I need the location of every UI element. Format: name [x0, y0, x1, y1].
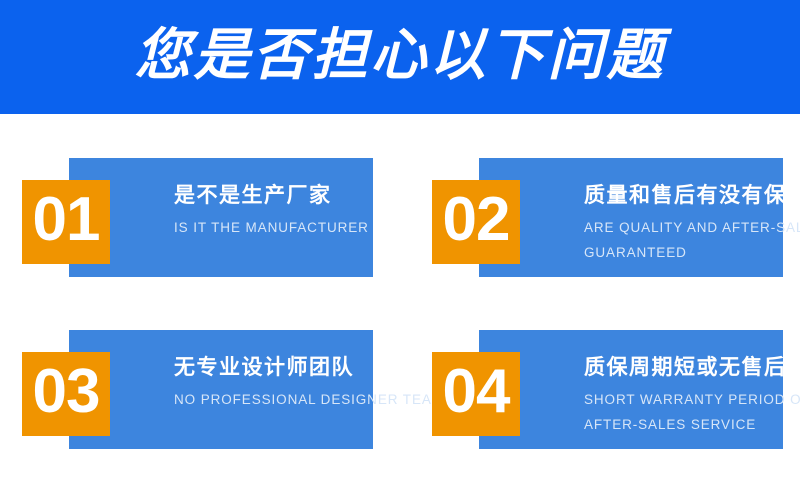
- concern-card-04: 质保周期短或无售后 SHORT WARRANTY PERIOD OR NO AF…: [432, 327, 800, 457]
- page-title: 您是否担心以下问题: [0, 0, 800, 114]
- card-title-en-line: NO PROFESSIONAL DESIGNER TEAM: [174, 388, 422, 413]
- card-panel: 质保周期短或无售后 SHORT WARRANTY PERIOD OR NO AF…: [479, 330, 783, 449]
- card-title-en-line: GUARANTEED: [584, 241, 800, 266]
- card-number-label: 01: [33, 189, 100, 255]
- card-number-label: 03: [33, 361, 100, 427]
- card-title-en: ARE QUALITY AND AFTER-SALES GUARANTEED: [584, 216, 800, 266]
- concern-card-03: 无专业设计师团队 NO PROFESSIONAL DESIGNER TEAM 0…: [22, 327, 392, 457]
- card-title-en-line: SHORT WARRANTY PERIOD OR NO: [584, 388, 800, 413]
- card-text-block: 是不是生产厂家 IS IT THE MANUFACTURER: [174, 183, 422, 241]
- card-number-badge: 02: [432, 180, 520, 264]
- card-number-label: 04: [443, 361, 510, 427]
- card-title-en-line: AFTER-SALES SERVICE: [584, 413, 800, 438]
- concern-card-01: 是不是生产厂家 IS IT THE MANUFACTURER 01: [22, 155, 392, 285]
- promo-poster: 您是否担心以下问题 是不是生产厂家 IS IT THE MANUFACTURER…: [0, 0, 800, 477]
- card-number-badge: 03: [22, 352, 110, 436]
- card-text-block: 质保周期短或无售后 SHORT WARRANTY PERIOD OR NO AF…: [584, 355, 800, 438]
- card-panel: 是不是生产厂家 IS IT THE MANUFACTURER: [69, 158, 373, 277]
- header-banner: 您是否担心以下问题: [0, 0, 800, 114]
- concern-card-02: 质量和售后有没有保障 ARE QUALITY AND AFTER-SALES G…: [432, 155, 800, 285]
- card-number-badge: 04: [432, 352, 520, 436]
- card-panel: 质量和售后有没有保障 ARE QUALITY AND AFTER-SALES G…: [479, 158, 783, 277]
- card-number-badge: 01: [22, 180, 110, 264]
- card-title-en: NO PROFESSIONAL DESIGNER TEAM: [174, 388, 422, 413]
- card-title-cn: 质量和售后有没有保障: [584, 183, 800, 209]
- card-number-label: 02: [443, 189, 510, 255]
- card-title-cn: 质保周期短或无售后: [584, 355, 800, 381]
- card-title-en: IS IT THE MANUFACTURER: [174, 216, 422, 241]
- card-title-en: SHORT WARRANTY PERIOD OR NO AFTER-SALES …: [584, 388, 800, 438]
- card-text-block: 无专业设计师团队 NO PROFESSIONAL DESIGNER TEAM: [174, 355, 422, 413]
- card-panel: 无专业设计师团队 NO PROFESSIONAL DESIGNER TEAM: [69, 330, 373, 449]
- card-text-block: 质量和售后有没有保障 ARE QUALITY AND AFTER-SALES G…: [584, 183, 800, 266]
- card-title-cn: 无专业设计师团队: [174, 355, 422, 381]
- card-title-en-line: ARE QUALITY AND AFTER-SALES: [584, 216, 800, 241]
- card-title-en-line: IS IT THE MANUFACTURER: [174, 216, 422, 241]
- card-title-cn: 是不是生产厂家: [174, 183, 422, 209]
